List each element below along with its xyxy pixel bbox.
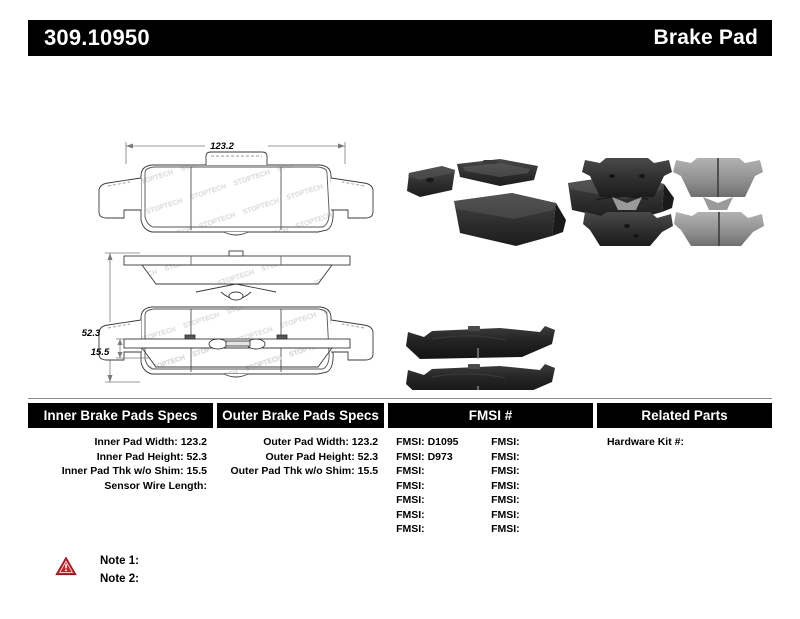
table-top-rule [28, 398, 772, 399]
table-body: Inner Pad Width: 123.2 Inner Pad Height:… [28, 428, 772, 537]
header-bar: 309.10950 Brake Pad [28, 20, 772, 56]
warning-triangle-icon [55, 556, 77, 576]
spec-label: Outer Pad Width: [263, 436, 349, 448]
spec-row: Outer Pad Width: 123.2 [217, 435, 384, 450]
fmsi-row: FMSI: [396, 508, 491, 523]
outer-specs-column: Outer Pad Width: 123.2 Outer Pad Height:… [217, 435, 384, 537]
spec-row: Inner Pad Thk w/o Shim: 15.5 [28, 464, 213, 479]
fmsi-label: FMSI: [491, 494, 520, 506]
related-part-label: Hardware Kit #: [607, 436, 684, 448]
spec-row: Outer Pad Height: 52.3 [217, 450, 384, 465]
specifications-table: Inner Brake Pads Specs Outer Brake Pads … [28, 403, 772, 537]
spec-value: 15.5 [187, 465, 207, 477]
notes-section: Note 1: Note 2: [55, 552, 139, 588]
column-header-outer-specs: Outer Brake Pads Specs [217, 403, 384, 428]
fmsi-row: FMSI: [396, 479, 491, 494]
fmsi-label: FMSI: [396, 523, 425, 535]
fmsi-row: FMSI: [396, 522, 491, 537]
fmsi-row: FMSI: [491, 435, 586, 450]
fmsi-row: FMSI: [491, 464, 586, 479]
fmsi-label: FMSI: [491, 509, 520, 521]
fmsi-label: FMSI: [396, 451, 425, 463]
note-line-1: Note 1: [100, 552, 139, 570]
column-header-fmsi: FMSI # [388, 403, 593, 428]
fmsi-label: FMSI: [396, 509, 425, 521]
fmsi-column: FMSI: D1095 FMSI: D973 FMSI: FMSI: [388, 435, 593, 537]
spec-row: Outer Pad Thk w/o Shim: 15.5 [217, 464, 384, 479]
fmsi-row: FMSI: [491, 450, 586, 465]
product-type: Brake Pad [653, 26, 758, 50]
fmsi-value: D973 [428, 451, 453, 463]
fmsi-row: FMSI: [491, 479, 586, 494]
related-parts-column: Hardware Kit #: [597, 435, 772, 537]
fmsi-label: FMSI: [491, 480, 520, 492]
spec-value: 123.2 [352, 436, 378, 448]
fmsi-row: FMSI: [491, 508, 586, 523]
table-header-row: Inner Brake Pads Specs Outer Brake Pads … [28, 403, 772, 428]
fmsi-label: FMSI: [491, 465, 520, 477]
spec-row: Sensor Wire Length: [28, 479, 213, 494]
inner-specs-column: Inner Pad Width: 123.2 Inner Pad Height:… [28, 435, 213, 537]
spec-value: 52.3 [187, 451, 207, 463]
column-header-inner-specs: Inner Brake Pads Specs [28, 403, 213, 428]
spec-label: Inner Pad Thk w/o Shim: [62, 465, 184, 477]
fmsi-row: FMSI: D1095 [396, 435, 491, 450]
spec-value: 123.2 [181, 436, 207, 448]
fmsi-value: D1095 [428, 436, 459, 448]
spec-label: Outer Pad Thk w/o Shim: [230, 465, 354, 477]
note-line-2: Note 2: [100, 570, 139, 588]
spec-value: 15.5 [358, 465, 378, 477]
related-part-row: Hardware Kit #: [597, 435, 772, 450]
fmsi-row: FMSI: [396, 464, 491, 479]
fmsi-subcolumn-right: FMSI: FMSI: FMSI: FMSI: [491, 435, 586, 537]
fmsi-label: FMSI: [491, 523, 520, 535]
figure-area: STOPTECH [0, 60, 800, 390]
fmsi-label: FMSI: [396, 465, 425, 477]
fmsi-label: FMSI: [396, 436, 425, 448]
fmsi-row: FMSI: [396, 493, 491, 508]
dimension-label-thickness: 15.5 [91, 347, 110, 358]
spec-label: Outer Pad Height: [265, 451, 354, 463]
fmsi-grid: FMSI: D1095 FMSI: D973 FMSI: FMSI: [388, 435, 593, 537]
fmsi-row: FMSI: D973 [396, 450, 491, 465]
height-dimension [105, 253, 140, 382]
pad-plan-view-top [99, 142, 373, 235]
fmsi-label: FMSI: [396, 494, 425, 506]
spec-row: Inner Pad Width: 123.2 [28, 435, 213, 450]
dimension-label-height: 52.3 [82, 328, 101, 339]
spec-label: Inner Pad Width: [94, 436, 177, 448]
dimension-label-width: 123.2 [210, 141, 234, 152]
pad-edge-view-middle [124, 251, 350, 300]
fmsi-label: FMSI: [491, 451, 520, 463]
fmsi-row: FMSI: [491, 522, 586, 537]
fmsi-label: FMSI: [396, 480, 425, 492]
spec-row: Inner Pad Height: 52.3 [28, 450, 213, 465]
spec-label: Inner Pad Height: [97, 451, 184, 463]
spec-value: 52.3 [358, 451, 378, 463]
product-photo-edge-pair [406, 326, 555, 390]
fmsi-row: FMSI: [491, 493, 586, 508]
spec-label: Sensor Wire Length: [104, 480, 207, 492]
fmsi-subcolumn-left: FMSI: D1095 FMSI: D973 FMSI: FMSI: [396, 435, 491, 537]
notes-text-block: Note 1: Note 2: [100, 552, 139, 588]
part-number: 309.10950 [44, 25, 150, 51]
fmsi-label: FMSI: [491, 436, 520, 448]
column-header-related-parts: Related Parts [597, 403, 772, 428]
